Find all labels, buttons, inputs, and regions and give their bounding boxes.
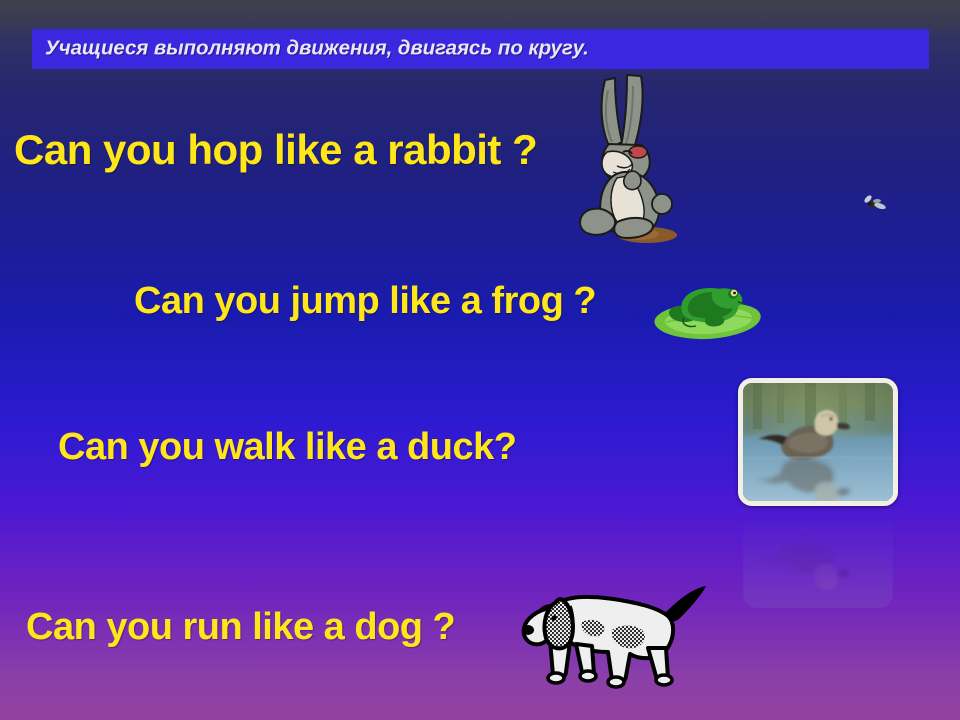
flying-insect-icon [862,192,888,214]
dog-icon [516,568,711,694]
question-line-frog: Can you jump like a frog ? [134,280,596,323]
question-line-duck: Can you walk like a duck? [58,426,516,469]
question-line-rabbit: Can you hop like a rabbit ? [14,126,537,174]
title-banner: Учащиеся выполняют движения, двигаясь по… [33,30,928,68]
question-line-dog: Can you run like a dog ? [26,606,455,649]
rabbit-icon [565,72,690,252]
duck-photo [738,378,898,506]
duck-photo-reflection [743,512,893,608]
title-banner-text: Учащиеся выполняют движения, двигаясь по… [45,37,589,61]
slide-canvas: Учащиеся выполняют движения, двигаясь по… [0,0,960,720]
frog-icon [648,282,766,344]
